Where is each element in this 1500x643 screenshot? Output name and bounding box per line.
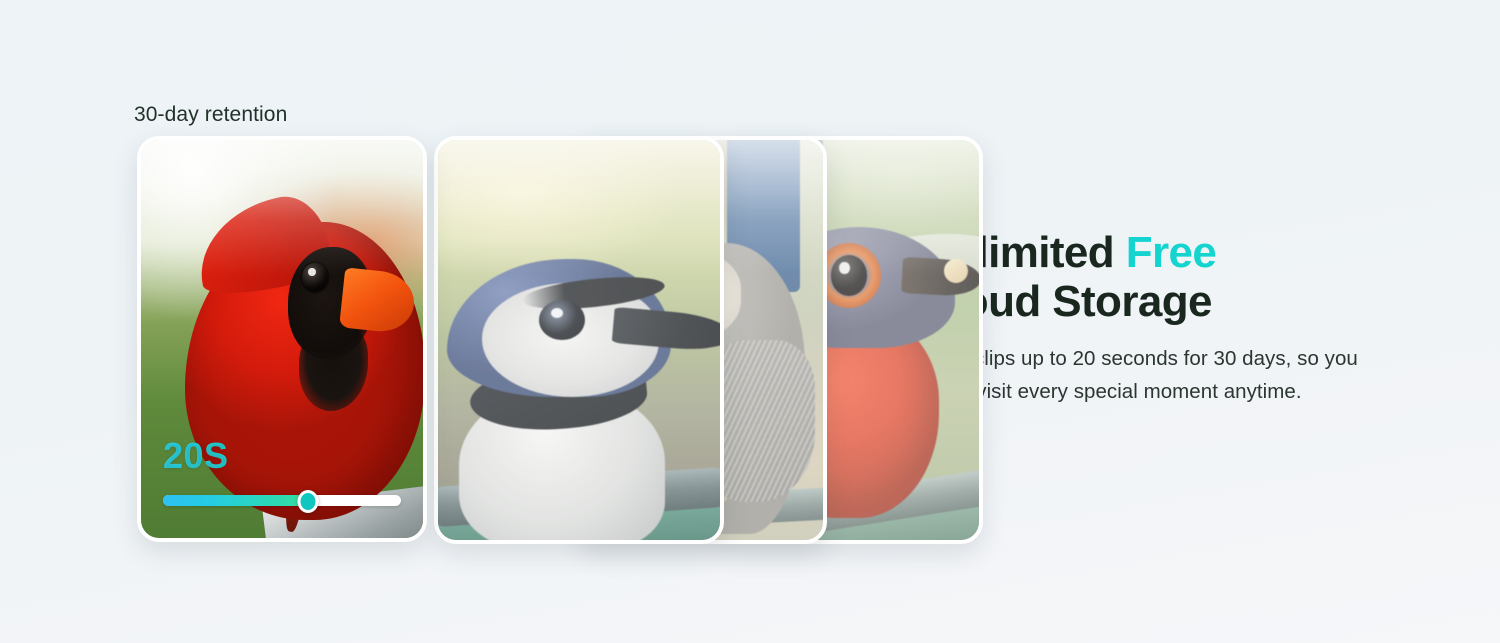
headline-text-accent: Free (1126, 228, 1217, 277)
clip-progress-slider[interactable] (163, 492, 401, 508)
clip-card-blue-jay[interactable] (434, 136, 724, 544)
feature-section: 30-day retention (0, 0, 1500, 643)
clip-playback-overlay: 20S (163, 436, 401, 508)
clip-card-cardinal[interactable]: 20S (137, 136, 427, 542)
feature-description: Store clips up to 20 seconds for 30 days… (919, 342, 1369, 408)
progress-knob[interactable] (298, 490, 319, 513)
feature-copy: Unlimited FreeCloud Storage Store clips … (919, 228, 1389, 408)
jay-eye-shape (539, 300, 585, 340)
progress-fill (163, 495, 308, 506)
robin-eye-shape (831, 255, 868, 295)
retention-label: 30-day retention (134, 100, 287, 130)
blue-jay-scene (436, 138, 722, 542)
cardinal-eye-shape (302, 263, 328, 292)
clip-card-stack: 20S (137, 136, 847, 546)
clip-duration-label: 20S (163, 436, 401, 476)
page-title: Unlimited FreeCloud Storage (919, 228, 1389, 326)
blue-jay-photo (436, 138, 722, 542)
